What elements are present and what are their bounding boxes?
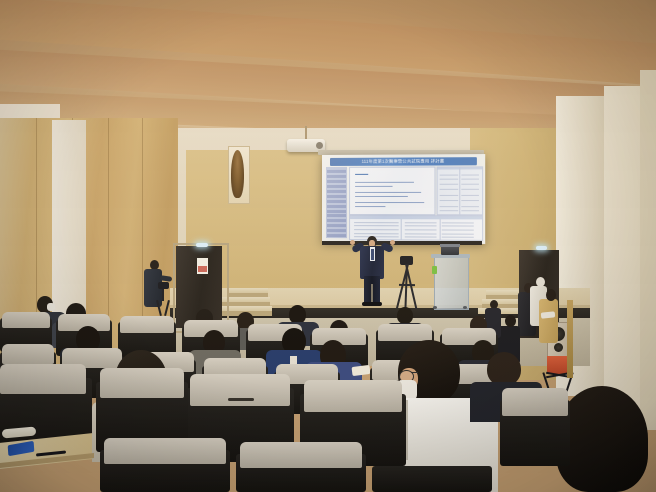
seat-headrest	[240, 442, 362, 468]
presenter-hand-left	[350, 240, 355, 245]
seat-headrest	[2, 312, 50, 328]
seat-headrest	[190, 374, 290, 406]
seat-headrest	[502, 388, 568, 416]
auditorium-photo: 111年度第1次醫療暨公共試院專用 評計畫	[0, 0, 656, 492]
projection-screen: 111年度第1次醫療暨公共試院專用 評計畫	[322, 154, 485, 244]
slide-left-index-column	[326, 167, 347, 238]
right-wall-edge	[640, 70, 656, 430]
laptop-icon	[441, 246, 459, 255]
seat-headrest	[304, 380, 402, 412]
seat-headrest	[0, 364, 86, 394]
seat-headrest	[2, 344, 54, 364]
seat-headrest	[120, 316, 174, 333]
door-light-right-icon	[536, 246, 547, 250]
projector-lens-icon	[316, 142, 323, 149]
seat-logo	[228, 398, 254, 401]
door-light-left-icon	[196, 243, 208, 247]
standing-attendee-2-head	[536, 277, 545, 287]
standing-attendee-4-head	[505, 315, 516, 327]
gold-panel-strip	[567, 300, 573, 378]
seat-headrest	[104, 438, 226, 464]
projector-mount-pole	[305, 126, 307, 140]
acrylic-lectern	[434, 256, 469, 310]
handout-paper	[352, 365, 371, 376]
audience-head	[397, 307, 413, 324]
slide-title: 111年度第1次醫療暨公共試院專用 評計畫	[330, 157, 477, 166]
door-sign-graphic	[198, 266, 207, 272]
seat-headrest	[100, 368, 184, 398]
audience-head	[487, 352, 521, 386]
presenter-shoes	[362, 302, 382, 306]
video-camera-tripod	[156, 282, 172, 316]
presenter-hand-right	[390, 240, 395, 245]
seat-back-nearest[interactable]	[372, 466, 492, 492]
standing-attendee-3-head	[546, 289, 556, 301]
presenter-tie	[371, 249, 374, 260]
slide-right-table	[436, 167, 483, 216]
standing-attendee-3-body	[539, 299, 558, 343]
seat-headrest	[378, 324, 432, 341]
slide-main-panel	[349, 167, 436, 215]
wood-relief-icon	[231, 150, 244, 198]
face-mask	[47, 303, 55, 311]
presenter-leg-gap	[371, 284, 373, 304]
lectern-accessory	[432, 266, 437, 274]
left-pillar	[52, 120, 86, 320]
laptop-lid	[440, 244, 460, 247]
